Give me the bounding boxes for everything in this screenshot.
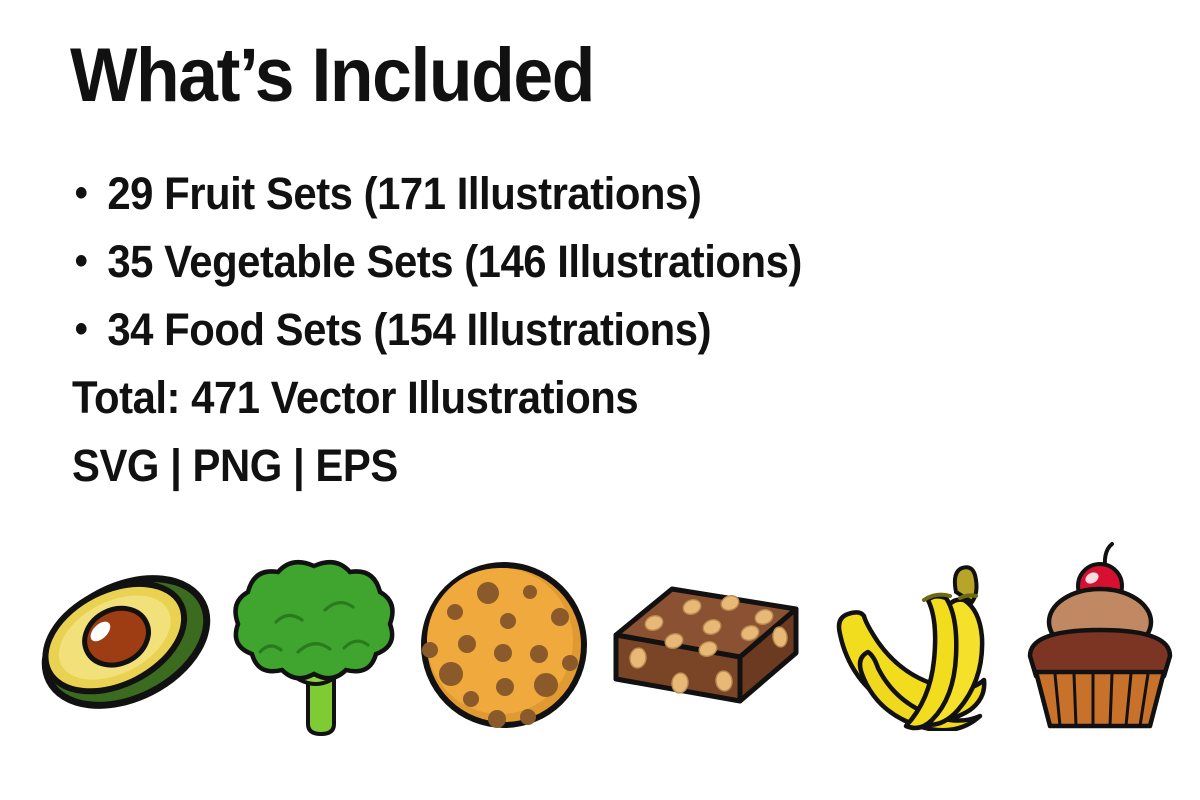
whats-included-graphic: What’s Included 29 Fruit Sets (171 Illus… xyxy=(0,0,1200,800)
list-item: 34 Food Sets (154 Illustrations) xyxy=(72,296,1076,364)
cookie-icon xyxy=(418,559,590,731)
bananas-icon xyxy=(828,556,1008,731)
included-list: 29 Fruit Sets (171 Illustrations) 35 Veg… xyxy=(72,160,1152,500)
list-item: 35 Vegetable Sets (146 Illustrations) xyxy=(72,228,1076,296)
formats-line: SVG | PNG | EPS xyxy=(72,432,1076,500)
avocado-icon xyxy=(34,557,219,727)
illustration-strip xyxy=(0,515,1200,745)
cupcake-icon xyxy=(1020,540,1180,735)
brownie-icon xyxy=(608,583,803,723)
page-title: What’s Included xyxy=(70,34,594,118)
list-item: 29 Fruit Sets (171 Illustrations) xyxy=(72,160,1076,228)
total-line: Total: 471 Vector Illustrations xyxy=(72,364,1076,432)
broccoli-icon xyxy=(232,552,397,737)
